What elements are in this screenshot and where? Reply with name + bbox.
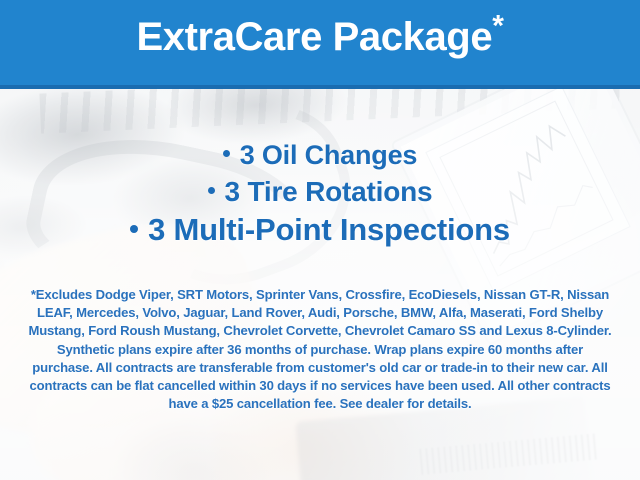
bullet-dot-icon <box>223 150 230 157</box>
promo-content: 3 Oil Changes 3 Tire Rotations 3 Multi-P… <box>0 89 640 480</box>
benefit-label: 3 Multi-Point Inspections <box>148 212 510 247</box>
header-banner: ExtraCare Package* <box>0 0 640 89</box>
page-title-text: ExtraCare Package <box>137 15 493 59</box>
list-item: 3 Multi-Point Inspections <box>0 210 640 250</box>
bullet-dot-icon <box>208 187 215 194</box>
benefit-label: 3 Tire Rotations <box>225 176 433 207</box>
list-item: 3 Tire Rotations <box>0 173 640 210</box>
page-title-asterisk: * <box>492 10 503 43</box>
bullet-dot-icon <box>130 225 138 233</box>
benefit-list: 3 Oil Changes 3 Tire Rotations 3 Multi-P… <box>0 137 640 250</box>
page-title: ExtraCare Package* <box>0 17 640 57</box>
extracare-promo-card: ExtraCare Package* 3 Oil Changes 3 Tire … <box>0 0 640 480</box>
benefit-label: 3 Oil Changes <box>240 140 417 170</box>
list-item: 3 Oil Changes <box>0 137 640 173</box>
disclaimer-text: *Excludes Dodge Viper, SRT Motors, Sprin… <box>26 286 614 413</box>
